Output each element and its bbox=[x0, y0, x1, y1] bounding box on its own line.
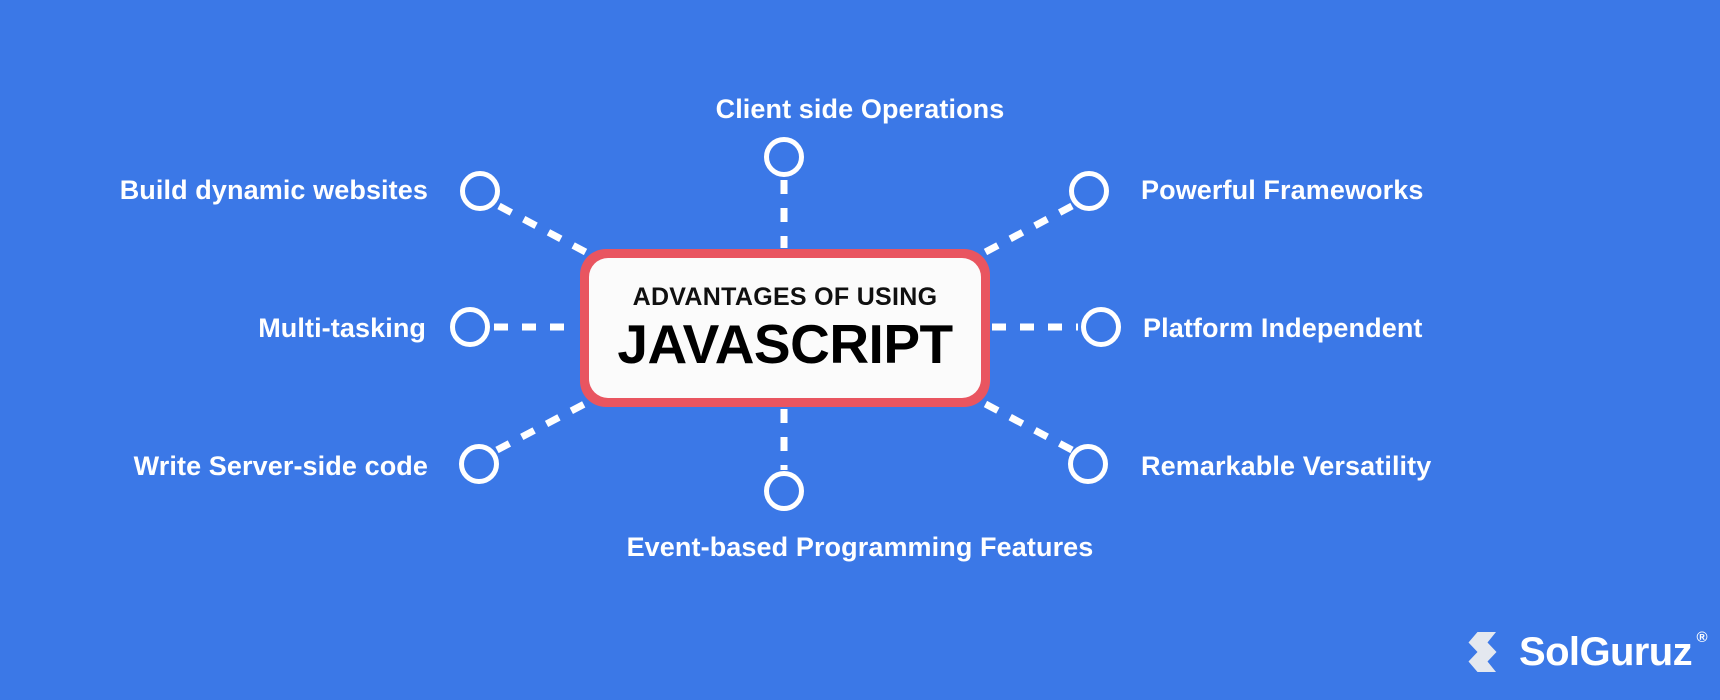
node-dot-remarkable-versatility[interactable] bbox=[1068, 444, 1108, 484]
center-card-inner: ADVANTAGES OF USING JAVASCRIPT bbox=[589, 258, 981, 398]
node-label-write-server-side-code: Write Server-side code bbox=[134, 453, 428, 480]
brand-name-text: SolGuruz bbox=[1519, 630, 1692, 674]
center-eyebrow-text: ADVANTAGES OF USING bbox=[633, 285, 938, 310]
center-card: ADVANTAGES OF USING JAVASCRIPT bbox=[580, 249, 990, 407]
center-headline-text: JAVASCRIPT bbox=[617, 317, 952, 372]
connector-remarkable-versatility bbox=[978, 400, 1072, 450]
node-dot-powerful-frameworks[interactable] bbox=[1069, 171, 1109, 211]
connector-write-server-side-code bbox=[497, 400, 592, 450]
node-label-event-based-programming-features: Event-based Programming Features bbox=[0, 534, 1720, 561]
node-dot-build-dynamic-websites[interactable] bbox=[460, 171, 500, 211]
node-label-powerful-frameworks: Powerful Frameworks bbox=[1141, 177, 1424, 204]
infographic-canvas: Client side Operations Build dynamic web… bbox=[0, 0, 1720, 700]
brand-logo: SolGuruz ® bbox=[1463, 628, 1692, 676]
node-label-platform-independent: Platform Independent bbox=[1143, 315, 1423, 342]
node-dot-client-side-operations[interactable] bbox=[764, 137, 804, 177]
node-label-build-dynamic-websites: Build dynamic websites bbox=[120, 177, 428, 204]
node-label-remarkable-versatility: Remarkable Versatility bbox=[1141, 453, 1431, 480]
brand-name: SolGuruz ® bbox=[1519, 632, 1692, 672]
node-dot-event-based-programming-features[interactable] bbox=[764, 471, 804, 511]
node-dot-write-server-side-code[interactable] bbox=[459, 444, 499, 484]
node-dot-platform-independent[interactable] bbox=[1081, 307, 1121, 347]
node-label-client-side-operations: Client side Operations bbox=[0, 96, 1720, 123]
node-label-multi-tasking: Multi-tasking bbox=[258, 315, 426, 342]
connector-build-dynamic-websites bbox=[499, 206, 593, 256]
node-dot-multi-tasking[interactable] bbox=[450, 307, 490, 347]
registered-mark: ® bbox=[1697, 630, 1707, 645]
solguruz-hexagon-icon bbox=[1463, 628, 1511, 676]
connector-powerful-frameworks bbox=[978, 206, 1072, 256]
